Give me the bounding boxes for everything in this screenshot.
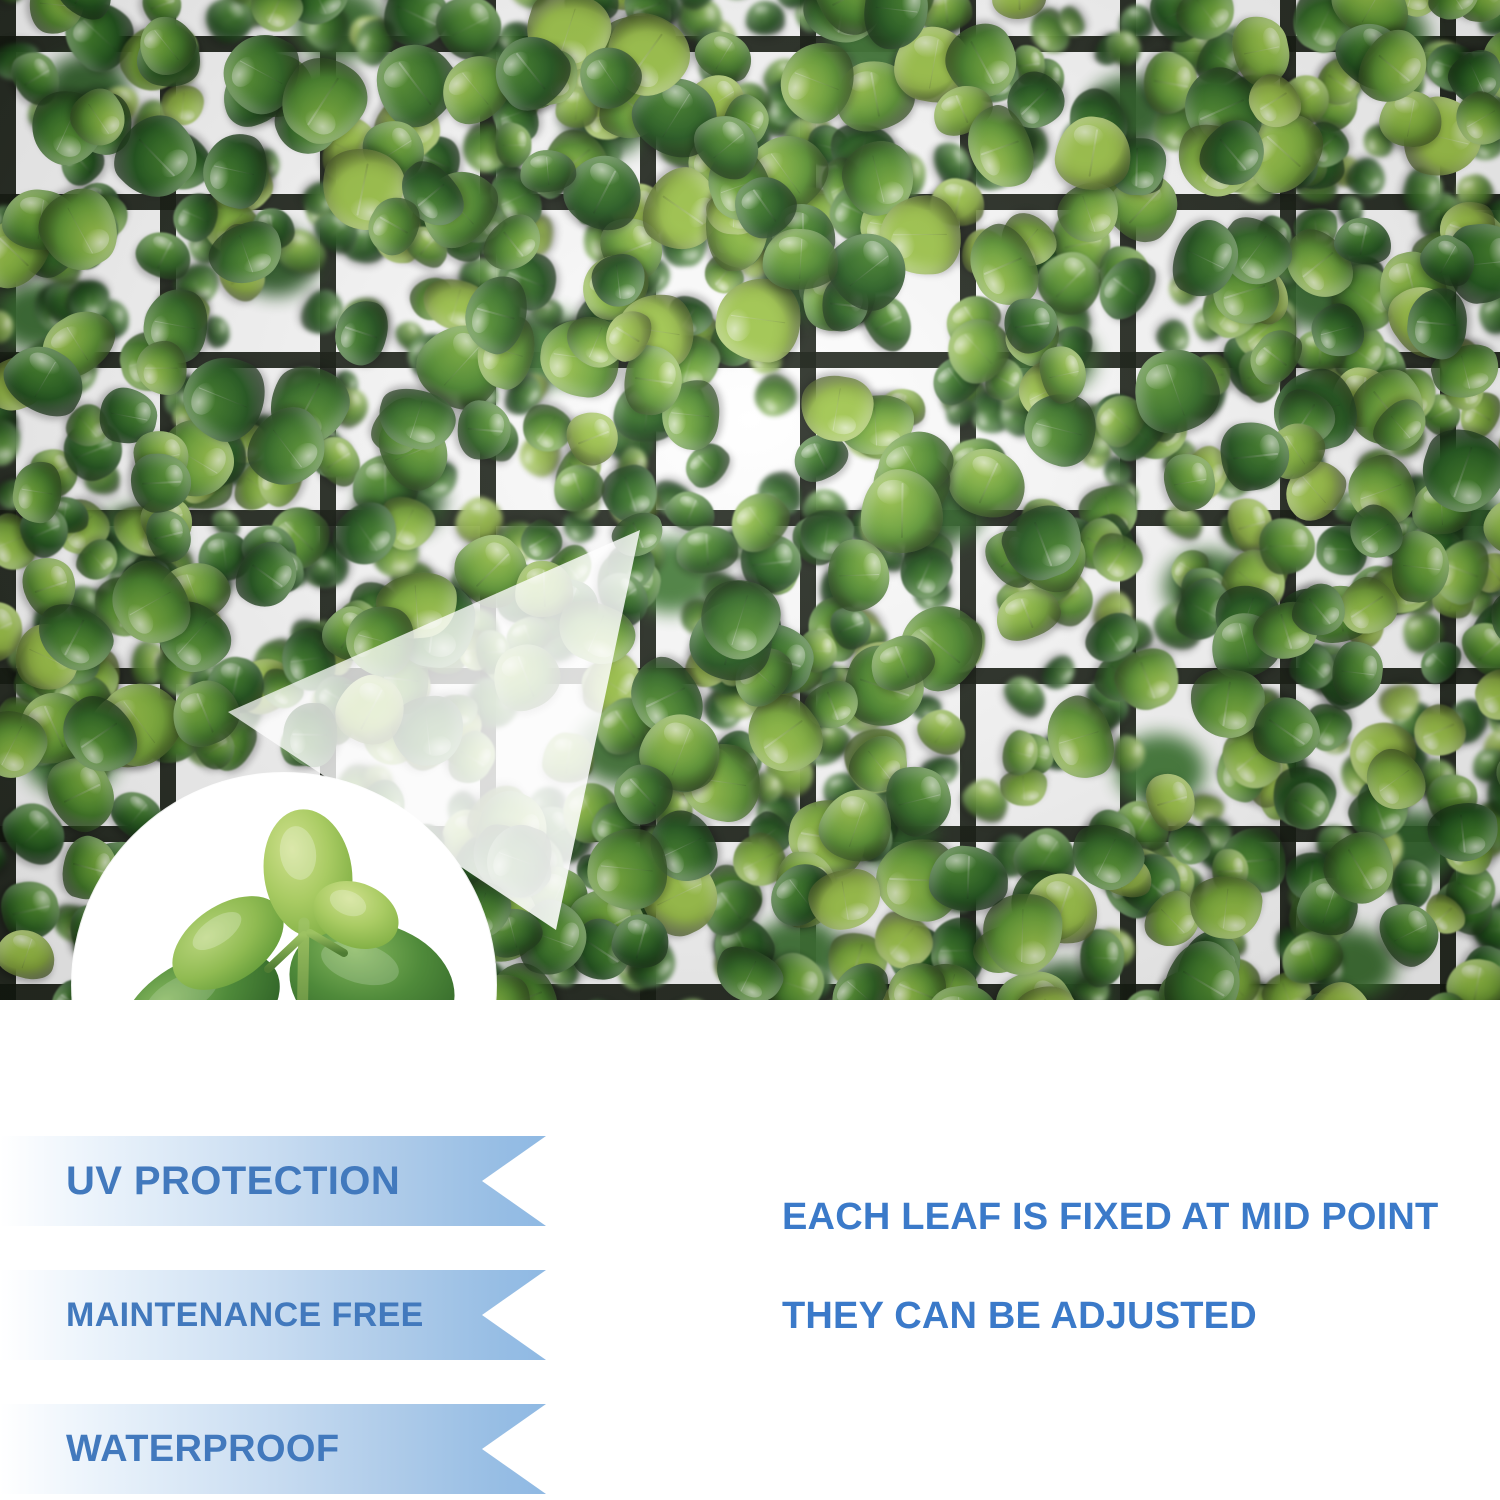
ribbon-label: WATERPROOF (0, 1428, 340, 1471)
feature-ribbon: WATERPROOF (0, 1404, 546, 1494)
feature-text-list: EACH LEAF IS FIXED AT MID POINTTHEY CAN … (782, 1196, 1482, 1394)
feature-ribbon: MAINTENANCE FREE (0, 1270, 546, 1360)
feature-ribbon: UV PROTECTION (0, 1136, 546, 1226)
ribbon-label: UV PROTECTION (0, 1159, 400, 1204)
feature-text: THEY CAN BE ADJUSTED (782, 1295, 1482, 1338)
product-infographic-page: UV PROTECTIONMAINTENANCE FREEWATERPROOF … (0, 0, 1500, 1500)
ribbon-label: MAINTENANCE FREE (0, 1296, 424, 1335)
feature-text: EACH LEAF IS FIXED AT MID POINT (782, 1196, 1482, 1239)
feature-ribbon-list: UV PROTECTIONMAINTENANCE FREEWATERPROOF (0, 1136, 560, 1500)
